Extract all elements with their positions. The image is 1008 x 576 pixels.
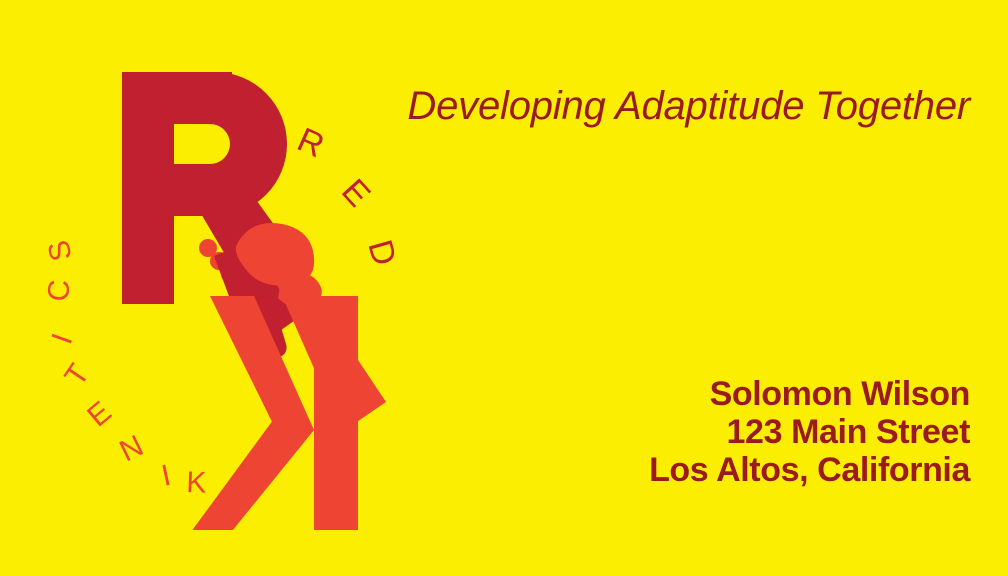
logo-arc-kinetics-letter: N [115,429,149,468]
contact-block: Solomon Wilson 123 Main Street Los Altos… [410,375,970,489]
logo-arc-kinetics-letter: E [81,395,118,433]
logo-arc-kinetics-letter: I [159,459,174,493]
logo-arc-kinetics-letter: K [186,466,207,500]
contact-name: Solomon Wilson [410,375,970,413]
logo-arc-red-letter: R [292,121,330,166]
logo-arc-red-letter: D [360,236,403,270]
contact-street: 123 Main Street [410,413,970,451]
logo-arc-red-letter: E [334,172,377,214]
tagline: Developing Adaptitude Together [350,82,970,130]
logo-arc-kinetics-letter: T [58,358,96,392]
business-card: R E D S C I T E N I K Developing Adaptit… [0,0,1008,576]
logo-arc-kinetics-letter: I [46,329,80,348]
logo-arc-kinetics-letter: S [42,237,79,264]
contact-city-state: Los Altos, California [410,451,970,489]
logo-arc-kinetics-letter: C [42,279,76,303]
